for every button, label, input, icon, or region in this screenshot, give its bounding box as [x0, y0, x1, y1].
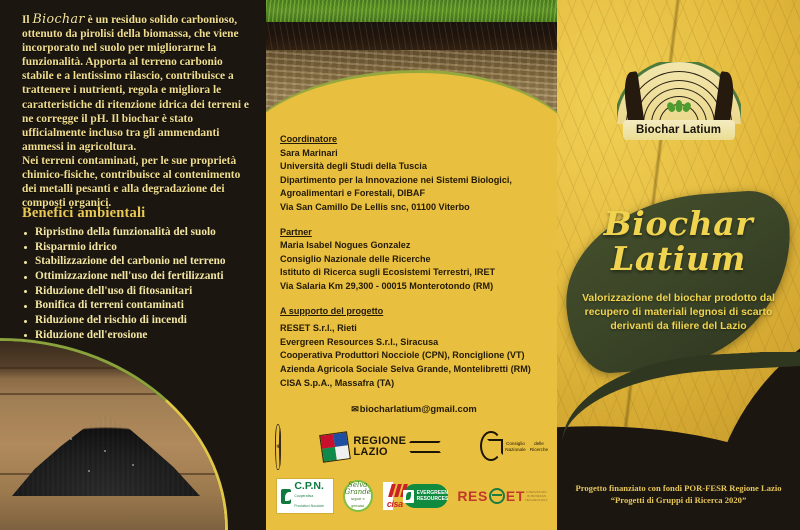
cover-title-line2: Latium: [557, 241, 800, 276]
support-heading: A supporto del progetto: [280, 305, 548, 319]
intro-paragraph-2: Nei terreni contaminati, per le sue prop…: [22, 154, 250, 210]
list-item: Bonifica di terreni contaminati: [22, 299, 254, 313]
granule-highlight: [132, 464, 134, 466]
cnr-line2: delle Ricerche: [529, 441, 549, 452]
coordinator-line: Università degli Studi della Tuscia: [280, 161, 427, 171]
granule-highlight: [70, 438, 72, 440]
biochar-latium-logo: Biochar Latium: [617, 62, 741, 138]
lazio-chevron-icon: [410, 434, 440, 460]
panel-middle: Coordinatore Sara Marinari Università de…: [266, 0, 557, 530]
coordinator-line: Sara Marinari: [280, 148, 338, 158]
partner-line: Maria Isabel Nogues Gonzalez: [280, 240, 410, 250]
cnr-glyph-icon: [480, 431, 502, 461]
cisa-logo: cisa: [382, 481, 394, 511]
cpn-leaf-icon: [281, 489, 291, 504]
partner-line: Via Salaria Km 29,300 - 00015 Monteroton…: [280, 281, 493, 291]
biochar-script-word: Biochar: [32, 11, 84, 26]
support-block: A supporto del progetto RESET S.r.l., Ri…: [280, 305, 548, 391]
leaf-stem-graphic: [557, 352, 800, 472]
logo-nameplate: Biochar Latium: [623, 120, 735, 140]
lazio-line2: LAZIO: [353, 447, 406, 458]
logos-row-partners: C.P.N.Cooperativa Produttori Nocciole Se…: [276, 478, 548, 514]
list-item: Risparmio idrico: [22, 241, 254, 255]
support-line: Azienda Agricola Sociale Selva Grande, M…: [280, 364, 531, 374]
funding-line1: Progetto finanziato con fondi POR-FESR R…: [569, 482, 788, 494]
cpn-logo: C.P.N.Cooperativa Produttori Nocciole: [276, 478, 334, 514]
partner-block: Partner Maria Isabel Nogues Gonzalez Con…: [280, 226, 548, 294]
support-line: RESET S.r.l., Rieti: [280, 323, 357, 333]
cpn-sub: Cooperativa Produttori Nocciole: [294, 491, 328, 511]
lazio-crest-icon: [320, 431, 352, 463]
reset-logo: RESET INNOVATION IN BIOMASS TECHNOLOGY: [457, 488, 548, 504]
organic-soil-layer: [266, 22, 557, 52]
lazio-wordmark: REGIONE LAZIO: [353, 436, 406, 458]
selva-grande-logo: Selva Grandesapori e genuini: [343, 480, 373, 512]
reset-label-left: RES: [457, 489, 488, 503]
envelope-icon: ✉: [351, 404, 359, 414]
support-line: CISA S.p.A., Massafra (TA): [280, 378, 394, 388]
intro-paragraph-1: Il Biochar è un residuo solido carbonios…: [22, 12, 250, 154]
panel-right-cover: Biochar Latium Biochar Latium Valorizzaz…: [557, 0, 800, 530]
funding-line2: “Progetti di Gruppi di Ricerca 2020”: [569, 494, 788, 506]
list-item: Ottimizzazione nell'uso dei fertilizzant…: [22, 270, 254, 284]
evergreen-line2: RESOURCES: [417, 496, 449, 502]
logos-row-institutional: ✻ REGIONE LAZIO Consiglio Nazionale dell…: [276, 424, 548, 470]
funding-note: Progetto finanziato con fondi POR-FESR R…: [569, 482, 788, 506]
list-item: Ripristino della funzionalità del suolo: [22, 226, 254, 240]
intro-rest: è un residuo solido carbonioso, ottenuto…: [22, 14, 249, 153]
benefits-heading: Benefici ambientali: [22, 205, 145, 222]
intro-lead: Il: [22, 14, 32, 26]
intro-paragraphs: Il Biochar è un residuo solido carbonios…: [22, 12, 250, 210]
leaves-icon: [667, 100, 690, 112]
contact-email[interactable]: ✉biocharlatium@gmail.com: [280, 402, 548, 417]
selva-label: Selva Grande: [345, 481, 371, 496]
cpn-wordmark: C.P.N.Cooperativa Produttori Nocciole: [294, 481, 328, 511]
evergreen-resources-logo: EVERGREEN RESOURCES: [403, 484, 449, 508]
cnr-line1: Consiglio Nazionale: [502, 441, 529, 452]
cnr-logo: Consiglio Nazionale delle Ricerche: [480, 431, 549, 463]
selva-sub: sapori e genuini: [345, 496, 371, 510]
evergreen-leaf-icon: [403, 490, 414, 503]
panel-left: Il Biochar è un residuo solido carbonios…: [0, 0, 266, 530]
cover-subtitle: Valorizzazione del biochar prodotto dal …: [571, 292, 786, 334]
tuscia-seal-mark: ✻: [276, 445, 280, 450]
list-item: Riduzione dell'uso di fitosanitari: [22, 285, 254, 299]
regione-lazio-logo: REGIONE LAZIO: [321, 433, 440, 461]
plank-line: [0, 367, 225, 369]
plank-line: [0, 393, 225, 395]
cover-title: Biochar Latium: [557, 206, 800, 276]
partner-line: Istituto di Ricerca sugli Ecosistemi Ter…: [280, 267, 495, 277]
coordinator-heading: Coordinatore: [280, 133, 548, 147]
contacts-block: Coordinatore Sara Marinari Università de…: [280, 133, 548, 417]
coordinator-line: Agroalimentari e Forestali, DIBAF: [280, 188, 425, 198]
reset-sub: INNOVATION IN BIOMASS TECHNOLOGY: [525, 490, 548, 502]
evergreen-wordmark: EVERGREEN RESOURCES: [417, 490, 449, 502]
coordinator-block: Coordinatore Sara Marinari Università de…: [280, 133, 548, 215]
biochar-pile-photo: [0, 338, 228, 530]
reset-label-right: ET: [506, 489, 525, 503]
partner-line: Consiglio Nazionale delle Ricerche: [280, 254, 431, 264]
cisa-label: cisa: [387, 499, 403, 509]
partner-heading: Partner: [280, 226, 548, 240]
tree-ring-dome: [617, 62, 741, 124]
reset-circle-icon: [489, 488, 505, 504]
universita-tuscia-logo: ✻: [275, 424, 281, 470]
reset-wordmark: RESET: [457, 488, 525, 504]
email-address: biocharlatium@gmail.com: [360, 403, 477, 414]
list-item: Stabilizzazione del carbonio nel terreno: [22, 255, 254, 269]
benefits-list: Ripristino della funzionalità del suolo …: [22, 226, 254, 344]
brochure-page: Il Biochar è un residuo solido carbonios…: [0, 0, 800, 530]
coordinator-line: Via San Camillo De Lellis snc, 01100 Vit…: [280, 202, 470, 212]
list-item: Riduzione del rischio di incendi: [22, 314, 254, 328]
support-line: Evergreen Resources S.r.l., Siracusa: [280, 337, 438, 347]
cover-title-line1: Biochar: [557, 206, 800, 241]
granule-highlight: [88, 470, 90, 472]
support-line: Cooperativa Produttori Nocciole (CPN), R…: [280, 350, 525, 360]
granule-highlight: [104, 450, 106, 452]
logos-area: ✻ REGIONE LAZIO Consiglio Nazionale dell…: [276, 424, 548, 514]
coordinator-line: Dipartimento per la Innovazione nei Sist…: [280, 175, 512, 185]
logo-text: Biochar Latium: [636, 124, 721, 136]
selva-wordmark: Selva Grandesapori e genuini: [345, 482, 371, 510]
